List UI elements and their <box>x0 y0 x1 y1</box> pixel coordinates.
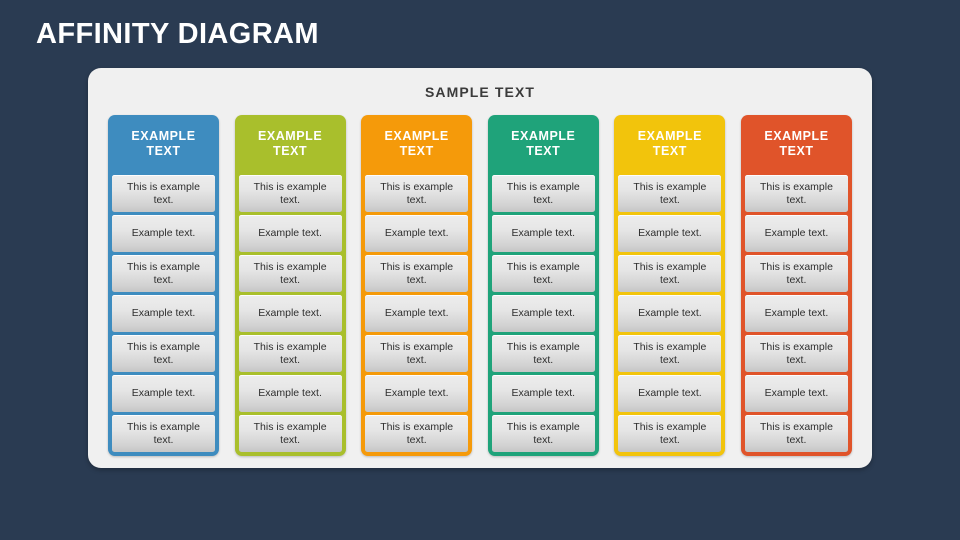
page-title: AFFINITY DIAGRAM <box>36 16 319 52</box>
slide-canvas: AFFINITY DIAGRAM SAMPLE TEXT EXAMPLE TEX… <box>0 0 960 540</box>
sticky-note-cell[interactable]: Example text. <box>745 295 848 332</box>
column-cell-list: This is example text.Example text.This i… <box>618 175 721 452</box>
sticky-note-cell[interactable]: This is example text. <box>239 255 342 292</box>
sticky-note-cell[interactable]: This is example text. <box>745 255 848 292</box>
sticky-note-cell[interactable]: This is example text. <box>365 335 468 372</box>
sticky-note-cell[interactable]: Example text. <box>365 215 468 252</box>
affinity-column[interactable]: EXAMPLE TEXTThis is example text.Example… <box>741 115 852 456</box>
sticky-note-cell[interactable]: This is example text. <box>365 415 468 452</box>
sticky-note-cell[interactable]: This is example text. <box>745 335 848 372</box>
sticky-note-cell[interactable]: This is example text. <box>239 415 342 452</box>
sticky-note-cell[interactable]: This is example text. <box>112 335 215 372</box>
sticky-note-cell[interactable]: Example text. <box>618 375 721 412</box>
sticky-note-cell[interactable]: This is example text. <box>745 415 848 452</box>
sticky-note-cell[interactable]: This is example text. <box>112 415 215 452</box>
sticky-note-cell[interactable]: Example text. <box>112 295 215 332</box>
column-header: EXAMPLE TEXT <box>365 115 468 175</box>
column-header: EXAMPLE TEXT <box>745 115 848 175</box>
affinity-column[interactable]: EXAMPLE TEXTThis is example text.Example… <box>614 115 725 456</box>
sticky-note-cell[interactable]: This is example text. <box>618 255 721 292</box>
diagram-card: SAMPLE TEXT EXAMPLE TEXTThis is example … <box>88 68 872 468</box>
affinity-column[interactable]: EXAMPLE TEXTThis is example text.Example… <box>361 115 472 456</box>
sticky-note-cell[interactable]: Example text. <box>112 375 215 412</box>
sticky-note-cell[interactable]: Example text. <box>745 215 848 252</box>
column-cell-list: This is example text.Example text.This i… <box>239 175 342 452</box>
column-cell-list: This is example text.Example text.This i… <box>112 175 215 452</box>
affinity-column[interactable]: EXAMPLE TEXTThis is example text.Example… <box>108 115 219 456</box>
sticky-note-cell[interactable]: This is example text. <box>492 175 595 212</box>
sticky-note-cell[interactable]: Example text. <box>365 295 468 332</box>
sticky-note-cell[interactable]: This is example text. <box>492 335 595 372</box>
affinity-column[interactable]: EXAMPLE TEXTThis is example text.Example… <box>488 115 599 456</box>
sticky-note-cell[interactable]: This is example text. <box>618 415 721 452</box>
column-header: EXAMPLE TEXT <box>112 115 215 175</box>
column-cell-list: This is example text.Example text.This i… <box>365 175 468 452</box>
sticky-note-cell[interactable]: Example text. <box>365 375 468 412</box>
sticky-note-cell[interactable]: Example text. <box>112 215 215 252</box>
column-header: EXAMPLE TEXT <box>618 115 721 175</box>
affinity-column[interactable]: EXAMPLE TEXTThis is example text.Example… <box>235 115 346 456</box>
column-header: EXAMPLE TEXT <box>239 115 342 175</box>
sticky-note-cell[interactable]: Example text. <box>239 375 342 412</box>
sticky-note-cell[interactable]: Example text. <box>492 375 595 412</box>
sticky-note-cell[interactable]: This is example text. <box>492 415 595 452</box>
sticky-note-cell[interactable]: Example text. <box>492 215 595 252</box>
sticky-note-cell[interactable]: This is example text. <box>239 175 342 212</box>
sticky-note-cell[interactable]: Example text. <box>618 295 721 332</box>
sticky-note-cell[interactable]: Example text. <box>745 375 848 412</box>
column-cell-list: This is example text.Example text.This i… <box>745 175 848 452</box>
sticky-note-cell[interactable]: This is example text. <box>365 175 468 212</box>
sticky-note-cell[interactable]: This is example text. <box>492 255 595 292</box>
column-header: EXAMPLE TEXT <box>492 115 595 175</box>
sticky-note-cell[interactable]: Example text. <box>239 295 342 332</box>
sticky-note-cell[interactable]: This is example text. <box>618 335 721 372</box>
sticky-note-cell[interactable]: This is example text. <box>112 255 215 292</box>
sticky-note-cell[interactable]: This is example text. <box>239 335 342 372</box>
sticky-note-cell[interactable]: This is example text. <box>618 175 721 212</box>
card-heading: SAMPLE TEXT <box>88 84 872 100</box>
sticky-note-cell[interactable]: This is example text. <box>365 255 468 292</box>
sticky-note-cell[interactable]: Example text. <box>239 215 342 252</box>
column-cell-list: This is example text.Example text.This i… <box>492 175 595 452</box>
affinity-columns: EXAMPLE TEXTThis is example text.Example… <box>108 115 852 456</box>
sticky-note-cell[interactable]: Example text. <box>618 215 721 252</box>
sticky-note-cell[interactable]: This is example text. <box>112 175 215 212</box>
sticky-note-cell[interactable]: This is example text. <box>745 175 848 212</box>
sticky-note-cell[interactable]: Example text. <box>492 295 595 332</box>
